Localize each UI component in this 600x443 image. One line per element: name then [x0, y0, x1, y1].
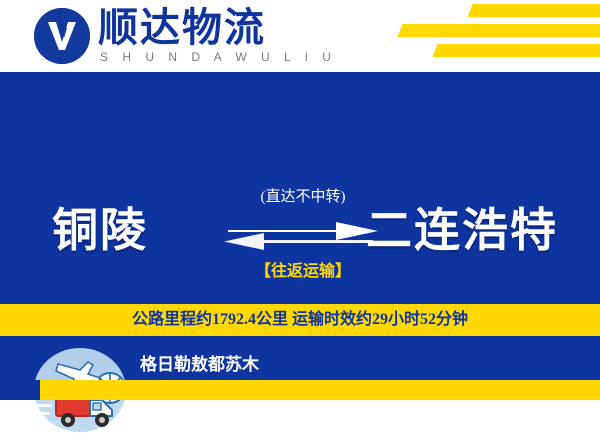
direct-label: (直达不中转): [243, 185, 363, 206]
decorative-stripes: [340, 0, 600, 72]
stripe-1: [467, 4, 600, 17]
brand-name: 顺达物流: [98, 6, 266, 50]
bottom-bar-cap: [0, 380, 40, 400]
stripe-3: [432, 44, 600, 57]
double-arrow-icon: [218, 212, 383, 250]
roundtrip-label: 【往返运输】: [233, 257, 373, 281]
destination-city: 二连浩特: [366, 194, 558, 260]
brand-pinyin: S H U N D A W U L I U: [100, 50, 336, 64]
main-blue-area: 铜陵 二连浩特 (直达不中转) 【往返运输】 公路里程约1792.4公里 运输时…: [0, 72, 600, 400]
stripe-2: [397, 24, 600, 37]
header-band: 顺达物流 S H U N D A W U L I U: [0, 0, 600, 72]
origin-city: 铜陵: [52, 194, 148, 260]
circle-w-logo-icon: [34, 8, 90, 64]
info-band: 公路里程约1792.4公里 运输时效约29小时52分钟: [0, 304, 600, 336]
destination-detail: 格日勒敖都苏木: [140, 350, 259, 375]
distance-duration-text: 公路里程约1792.4公里 运输时效约29小时52分钟: [0, 304, 600, 336]
poster-root: 顺达物流 S H U N D A W U L I U 铜陵 二连浩特 (直达不中…: [0, 0, 600, 400]
bottom-accent-bar: [0, 380, 600, 400]
